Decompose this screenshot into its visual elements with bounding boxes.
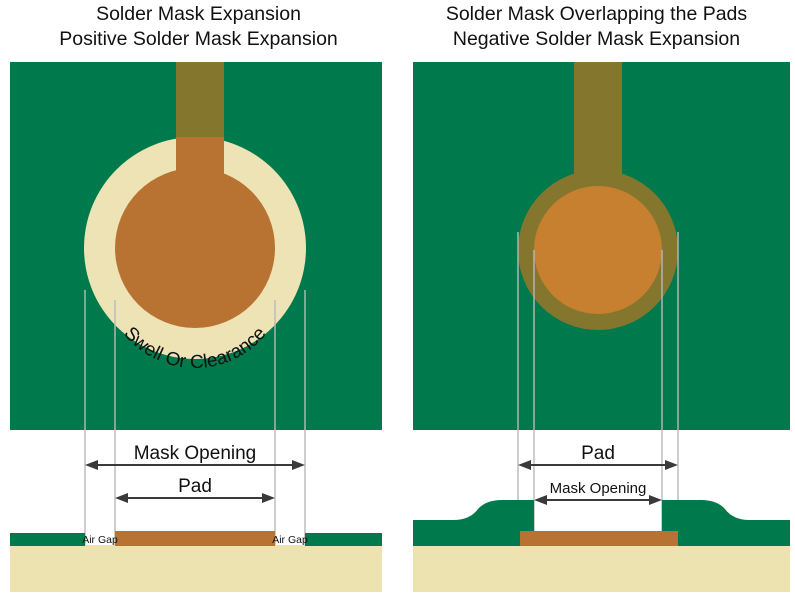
dimension-pad-label: Pad bbox=[178, 476, 212, 497]
dimension-mask-opening-label: Mask Opening bbox=[550, 480, 647, 497]
dimension-pad-label: Pad bbox=[581, 443, 615, 464]
substrate-laminate bbox=[10, 545, 382, 592]
copper-pad-cross-section bbox=[520, 531, 678, 546]
panel-positive-expansion: Solder Mask Expansion Positive Solder Ma… bbox=[0, 0, 397, 603]
panel-negative-graphic: Pad Mask Opening bbox=[398, 0, 795, 603]
substrate-laminate bbox=[413, 545, 790, 592]
solder-mask-slab-left bbox=[10, 533, 85, 546]
panel-positive-graphic: Swell Or Clearance Mask Opening bbox=[0, 0, 397, 603]
solder-mask-slab-right bbox=[662, 500, 790, 546]
copper-pad-cross-section bbox=[115, 531, 275, 546]
cross-section-positive: Air Gap Air Gap bbox=[10, 531, 382, 592]
air-gap-label-left: Air Gap bbox=[82, 534, 118, 546]
dimension-mask-opening: Mask Opening bbox=[534, 480, 662, 505]
dimension-mask-opening: Mask Opening bbox=[85, 443, 305, 470]
mask-opening-exposed-copper bbox=[534, 186, 662, 314]
cross-section-negative bbox=[413, 500, 790, 592]
solder-mask-slab-left bbox=[413, 500, 534, 546]
air-gap-label-right: Air Gap bbox=[272, 534, 308, 546]
solder-mask-slab-right bbox=[305, 533, 382, 546]
panel-negative-expansion: Solder Mask Overlapping the Pads Negativ… bbox=[398, 0, 795, 603]
diagram-canvas: Solder Mask Expansion Positive Solder Ma… bbox=[0, 0, 795, 603]
dimension-mask-opening-label: Mask Opening bbox=[134, 443, 257, 464]
dimension-pad: Pad bbox=[115, 476, 275, 503]
copper-pad bbox=[115, 168, 275, 328]
dimension-pad: Pad bbox=[518, 443, 678, 470]
